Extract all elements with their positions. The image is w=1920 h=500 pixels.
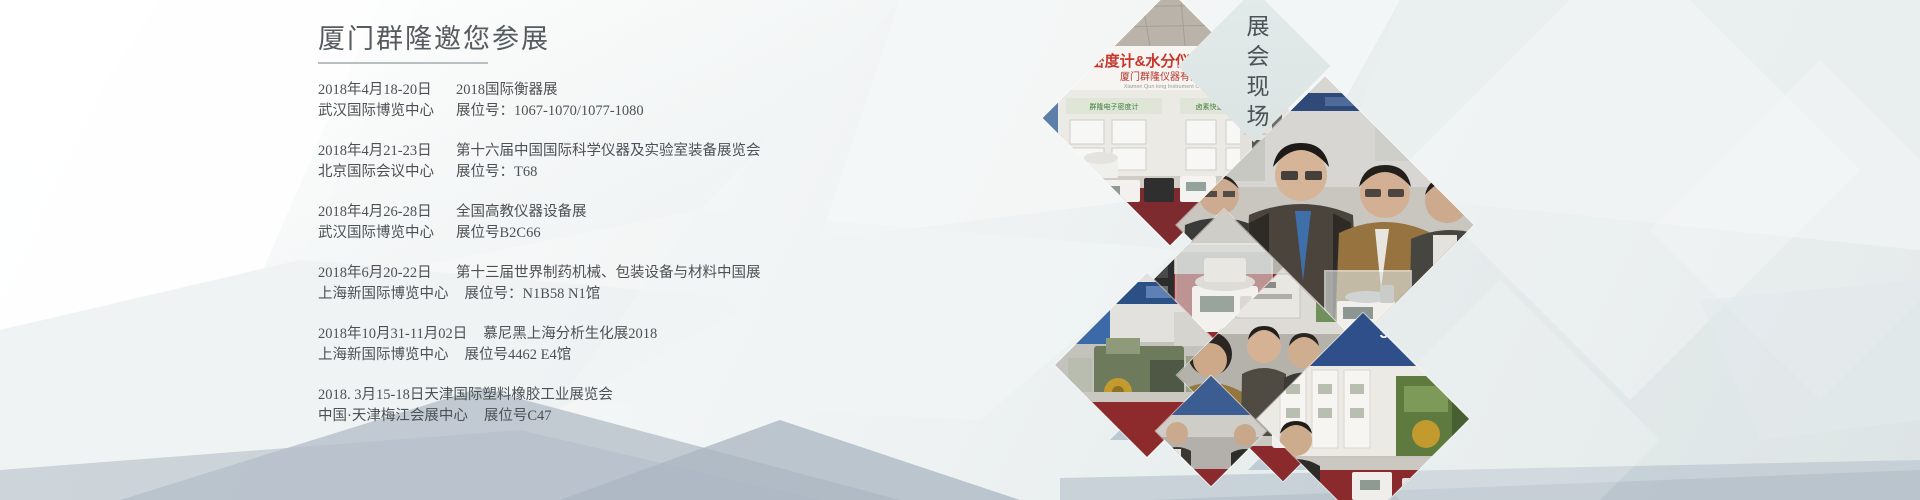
event-secondary-line: 中国·天津梅江会展中心展位号C47 — [318, 406, 1078, 427]
title-underline — [318, 62, 488, 64]
event-primary-line: 2018年4月26-28日全国高教仪器设备展 — [318, 202, 1078, 223]
event-venue: 北京国际会议中心 — [318, 162, 440, 183]
event-venue: 武汉国际博览中心 — [318, 223, 440, 244]
event-item: 2018年6月20-22日第十三届世界制药机械、包装设备与材料中国展 上海新国际… — [318, 263, 1078, 305]
event-booth: 展位号：N1B58 N1馆 — [449, 284, 601, 305]
event-primary-line: 2018年4月21-23日第十六届中国国际科学仪器及实验室装备展览会 — [318, 141, 1078, 162]
event-item: 2018. 3月15-18日天津国际塑料橡胶工业展览会 中国·天津梅江会展中心展… — [318, 385, 1078, 427]
event-name: 慕尼黑上海分析生化展2018 — [467, 324, 657, 345]
event-venue: 中国·天津梅江会展中心 — [318, 406, 468, 427]
event-item: 2018年4月21-23日第十六届中国国际科学仪器及实验室装备展览会 北京国际会… — [318, 141, 1078, 183]
event-item: 2018年4月18-20日2018国际衡器展 武汉国际博览中心展位号：1067-… — [318, 80, 1078, 122]
event-secondary-line: 北京国际会议中心展位号：T68 — [318, 162, 1078, 183]
event-date: 2018. 3月15-18日天津国际塑料橡胶工业展览会 — [318, 385, 613, 406]
event-secondary-line: 上海新国际博览中心展位号：N1B58 N1馆 — [318, 284, 1078, 305]
event-primary-line: 2018年4月18-20日2018国际衡器展 — [318, 80, 1078, 101]
event-secondary-line: 武汉国际博览中心展位号：1067-1070/1077-1080 — [318, 101, 1078, 122]
event-item: 2018年4月26-28日全国高教仪器设备展 武汉国际博览中心展位号B2C66 — [318, 202, 1078, 244]
event-date: 2018年10月31-11月02日 — [318, 324, 467, 345]
event-date: 2018年4月26-28日 — [318, 202, 440, 223]
event-booth: 展位号B2C66 — [440, 223, 541, 244]
event-booth: 展位号：T68 — [440, 162, 537, 183]
event-venue: 武汉国际博览中心 — [318, 101, 440, 122]
event-name: 2018国际衡器展 — [440, 80, 558, 101]
event-date: 2018年6月20-22日 — [318, 263, 440, 284]
event-secondary-line: 上海新国际博览中心展位号4462 E4馆 — [318, 345, 1078, 366]
event-name: 全国高教仪器设备展 — [440, 202, 587, 223]
event-date: 2018年4月21-23日 — [318, 141, 440, 162]
event-booth: 展位号C47 — [468, 406, 552, 427]
event-booth: 展位号4462 E4馆 — [449, 345, 572, 366]
page-title: 厦门群隆邀您参展 — [318, 22, 1078, 56]
event-name: 第十六届中国国际科学仪器及实验室装备展览会 — [440, 141, 761, 162]
event-venue: 上海新国际博览中心 — [318, 345, 449, 366]
exhibition-banner: 厦门群隆邀您参展 2018年4月18-20日2018国际衡器展 武汉国际博览中心… — [0, 0, 1920, 500]
event-date: 2018年4月18-20日 — [318, 80, 440, 101]
svg-text:群隆电子密度计: 群隆电子密度计 — [1090, 102, 1139, 111]
event-primary-line: 2018年6月20-22日第十三届世界制药机械、包装设备与材料中国展 — [318, 263, 1078, 284]
event-primary-line: 2018年10月31-11月02日慕尼黑上海分析生化展2018 — [318, 324, 1078, 345]
vertical-label-text: 展会现场 — [1238, 14, 1272, 144]
event-name: 第十三届世界制药机械、包装设备与材料中国展 — [440, 263, 761, 284]
event-list-panel: 厦门群隆邀您参展 2018年4月18-20日2018国际衡器展 武汉国际博览中心… — [318, 22, 1078, 482]
event-venue: 上海新国际博览中心 — [318, 284, 449, 305]
event-item: 2018年10月31-11月02日慕尼黑上海分析生化展2018 上海新国际博览中… — [318, 324, 1078, 366]
svg-text:3mCRT: 3mCRT — [1380, 325, 1433, 342]
event-primary-line: 2018. 3月15-18日天津国际塑料橡胶工业展览会 — [318, 385, 1078, 406]
event-booth: 展位号：1067-1070/1077-1080 — [440, 101, 644, 122]
event-secondary-line: 武汉国际博览中心展位号B2C66 — [318, 223, 1078, 244]
